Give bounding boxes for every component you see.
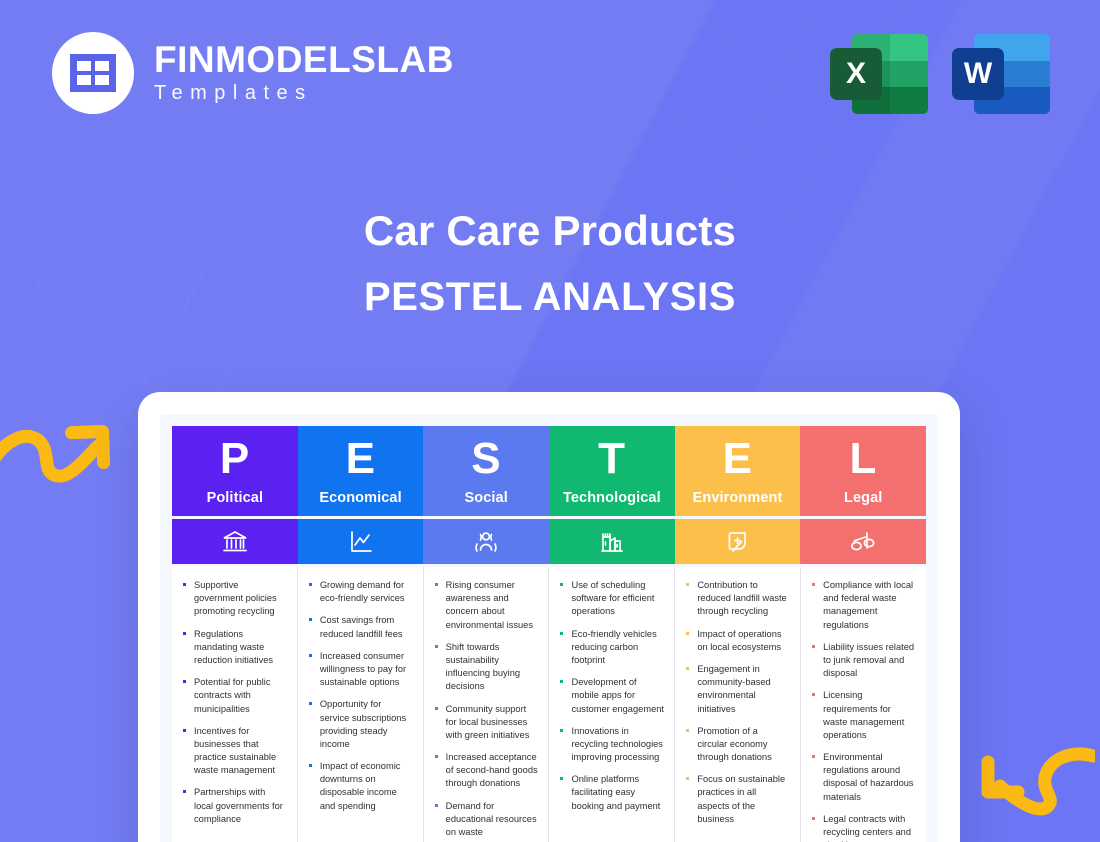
title-block: Car Care Products PESTEL ANALYSIS — [0, 205, 1100, 320]
list-item: Impact of economic downturns on disposab… — [307, 760, 413, 813]
label-social: Social — [465, 490, 508, 506]
list-item: Incentives for businesses that practice … — [181, 725, 287, 778]
bank-columns-icon — [221, 529, 249, 555]
label-environment: Environment — [693, 490, 783, 506]
list-item: Innovations in recycling technologies im… — [558, 725, 664, 765]
squiggly-arrow-up-right-icon — [0, 400, 140, 510]
device-screen: P Political E Economical S Social T Tech… — [160, 414, 938, 842]
brand-logo: FINMODELSLAB Templates — [52, 32, 454, 114]
excel-letter: X — [830, 48, 882, 100]
pestel-header-political[interactable]: P Political — [172, 426, 298, 516]
body-cell-legal: Compliance with local and federal waste … — [801, 567, 926, 842]
list-item: Demand for educational resources on wast… — [433, 800, 539, 842]
icon-cell-environment[interactable] — [675, 519, 801, 564]
list-item: Liability issues related to junk removal… — [810, 641, 916, 681]
body-cell-political: Supportive government policies promoting… — [172, 567, 298, 842]
list-item: Supportive government policies promoting… — [181, 579, 287, 619]
icon-cell-economical[interactable] — [298, 519, 424, 564]
list-item: Cost savings from reduced landfill fees — [307, 614, 413, 640]
icon-cell-technological[interactable] — [549, 519, 675, 564]
excel-file-icon: X — [830, 28, 928, 120]
page-title: Car Care Products — [0, 205, 1100, 257]
brand-tagline: Templates — [154, 82, 454, 105]
pestel-matrix: P Political E Economical S Social T Tech… — [172, 426, 926, 842]
letter-e2: E — [723, 437, 753, 481]
list-item: Shift towards sustainability influencing… — [433, 641, 539, 694]
letter-p: P — [220, 437, 250, 481]
list-item: Engagement in community-based environmen… — [684, 663, 790, 716]
list-item: Eco-friendly vehicles reducing carbon fo… — [558, 628, 664, 668]
pestel-header-environment[interactable]: E Environment — [675, 426, 801, 516]
list-item: Potential for public contracts with muni… — [181, 676, 287, 716]
list-item: Online platforms facilitating easy booki… — [558, 773, 664, 813]
list-item: Partnerships with local governments for … — [181, 786, 287, 826]
label-political: Political — [207, 490, 264, 506]
list-item: Development of mobile apps for customer … — [558, 676, 664, 716]
scales-balance-icon — [849, 529, 877, 555]
list-item: Contribution to reduced landfill waste t… — [684, 579, 790, 619]
list-item: Impact of operations on local ecosystems — [684, 628, 790, 654]
grid-squares-icon — [70, 54, 116, 92]
body-cell-technological: Use of scheduling software for efficient… — [549, 567, 675, 842]
page-subtitle: PESTEL ANALYSIS — [0, 275, 1100, 320]
list-item: Legal contracts with recycling centers a… — [810, 813, 916, 842]
label-legal: Legal — [844, 490, 882, 506]
poster-canvas: FINMODELSLAB Templates X W Car Care Prod… — [0, 0, 1100, 842]
letter-t: T — [598, 437, 625, 481]
icon-cell-political[interactable] — [172, 519, 298, 564]
letter-l: L — [850, 437, 877, 481]
list-item: Increased acceptance of second-hand good… — [433, 751, 539, 791]
list-item: Promotion of a circular economy through … — [684, 725, 790, 765]
brand-name: FINMODELSLAB — [154, 41, 454, 80]
icon-cell-legal[interactable] — [800, 519, 926, 564]
list-item: Increased consumer willingness to pay fo… — [307, 650, 413, 690]
body-cell-social: Rising consumer awareness and concern ab… — [424, 567, 550, 842]
leaf-icon — [725, 529, 751, 555]
list-item: Community support for local businesses w… — [433, 703, 539, 743]
list-item: Regulations mandating waste reduction in… — [181, 628, 287, 668]
body-cell-environment: Contribution to reduced landfill waste t… — [675, 567, 801, 842]
pestel-header-social[interactable]: S Social — [423, 426, 549, 516]
logo-badge — [52, 32, 134, 114]
list-item: Growing demand for eco-friendly services — [307, 579, 413, 605]
pestel-icon-row — [172, 519, 926, 564]
pestel-body-row: Supportive government policies promoting… — [172, 567, 926, 842]
letter-s: S — [471, 437, 501, 481]
line-chart-icon — [348, 529, 374, 555]
label-technological: Technological — [563, 490, 661, 506]
device-frame: P Political E Economical S Social T Tech… — [138, 392, 960, 842]
word-letter: W — [952, 48, 1004, 100]
list-item: Opportunity for service subscriptions pr… — [307, 698, 413, 751]
pestel-header-legal[interactable]: L Legal — [800, 426, 926, 516]
list-item: Rising consumer awareness and concern ab… — [433, 579, 539, 632]
brand-text: FINMODELSLAB Templates — [154, 41, 454, 106]
list-item: Environmental regulations around disposa… — [810, 751, 916, 804]
icon-cell-social[interactable] — [423, 519, 549, 564]
list-item: Licensing requirements for waste managem… — [810, 689, 916, 742]
pestel-header-technological[interactable]: T Technological — [549, 426, 675, 516]
body-cell-economical: Growing demand for eco-friendly services… — [298, 567, 424, 842]
list-item: Use of scheduling software for efficient… — [558, 579, 664, 619]
people-group-icon — [472, 529, 500, 555]
pestel-header-economical[interactable]: E Economical — [298, 426, 424, 516]
word-file-icon: W — [952, 28, 1050, 120]
list-item: Compliance with local and federal waste … — [810, 579, 916, 632]
squiggly-arrow-down-left-icon — [960, 740, 1095, 835]
format-badges: X W — [830, 28, 1050, 120]
label-economical: Economical — [319, 490, 401, 506]
list-item: Focus on sustainable practices in all as… — [684, 773, 790, 826]
factory-building-icon — [599, 529, 625, 555]
pestel-header-row: P Political E Economical S Social T Tech… — [172, 426, 926, 516]
letter-e1: E — [346, 437, 376, 481]
